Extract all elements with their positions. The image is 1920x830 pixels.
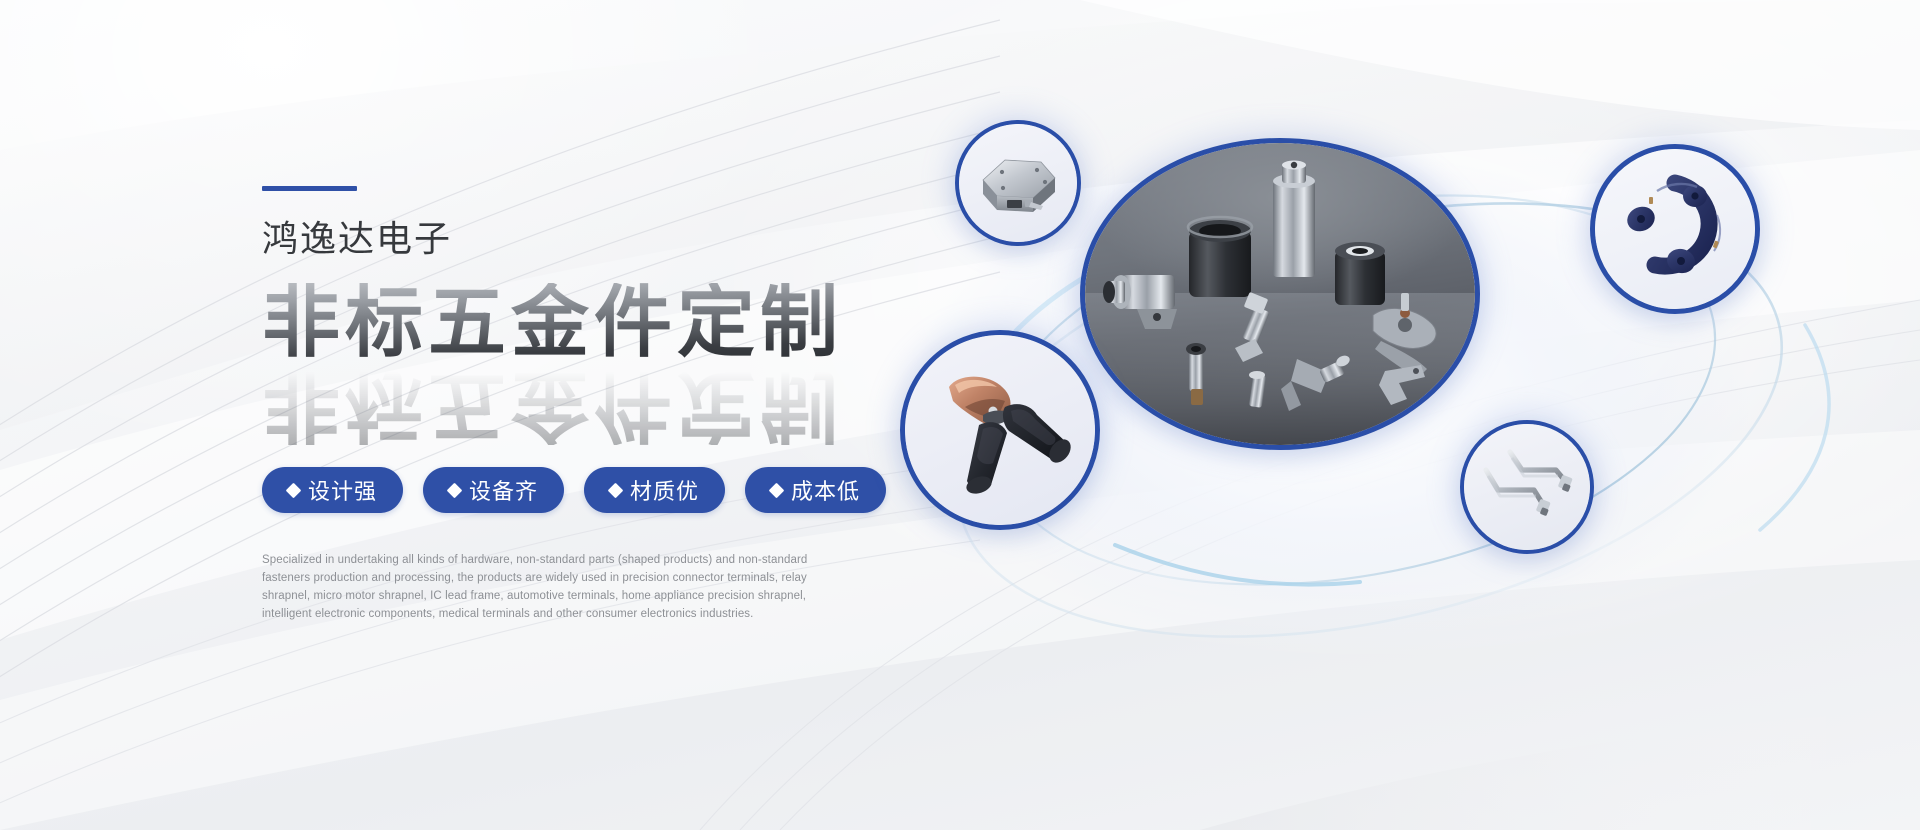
page-title: 非标五金件定制 xyxy=(262,283,902,361)
feature-tag-equipment[interactable]: 设备齐 xyxy=(423,467,564,513)
accent-bar xyxy=(262,186,357,191)
circle-machined-metal-parts[interactable] xyxy=(1080,138,1480,450)
feature-tag-label: 成本低 xyxy=(791,474,860,506)
feature-tag-material[interactable]: 材质优 xyxy=(584,467,725,513)
headline-reflection: 非标五金件定制 xyxy=(262,367,843,445)
machined-metal-parts-photo xyxy=(1085,143,1475,445)
feature-tag-design[interactable]: 设计强 xyxy=(262,467,403,513)
diamond-icon xyxy=(447,482,463,498)
brand-name: 鸿逸达电子 xyxy=(262,221,902,257)
company-description: Specialized in undertaking all kinds of … xyxy=(262,551,824,624)
feature-tag-label: 材质优 xyxy=(630,474,699,506)
headline-wrap: 非标五金件定制 非标五金件定制 xyxy=(262,283,902,415)
circle-terminal-pins[interactable] xyxy=(1460,420,1594,554)
metal-enclosure-photo xyxy=(959,124,1077,242)
feature-tag-label: 设计强 xyxy=(308,474,377,506)
feature-tag-list: 设计强 设备齐 材质优 成本低 xyxy=(262,467,902,513)
circle-retaining-ring[interactable] xyxy=(1590,144,1760,314)
retaining-ring-photo xyxy=(1595,149,1755,309)
diamond-icon xyxy=(608,482,624,498)
feature-tag-cost[interactable]: 成本低 xyxy=(745,467,886,513)
circle-metal-enclosure[interactable] xyxy=(955,120,1081,246)
hero-banner: 鸿逸达电子 非标五金件定制 非标五金件定制 设计强 设备齐 材质优 成本低 xyxy=(0,0,1920,830)
product-showcase xyxy=(900,120,1910,690)
battery-clamp-photo xyxy=(905,335,1095,525)
feature-tag-label: 设备齐 xyxy=(469,474,538,506)
diamond-icon xyxy=(769,482,785,498)
bent-terminal-pins-photo xyxy=(1464,424,1590,550)
diamond-icon xyxy=(286,482,302,498)
hero-text-column: 鸿逸达电子 非标五金件定制 非标五金件定制 设计强 设备齐 材质优 成本低 xyxy=(262,186,902,624)
circle-battery-clamp[interactable] xyxy=(900,330,1100,530)
